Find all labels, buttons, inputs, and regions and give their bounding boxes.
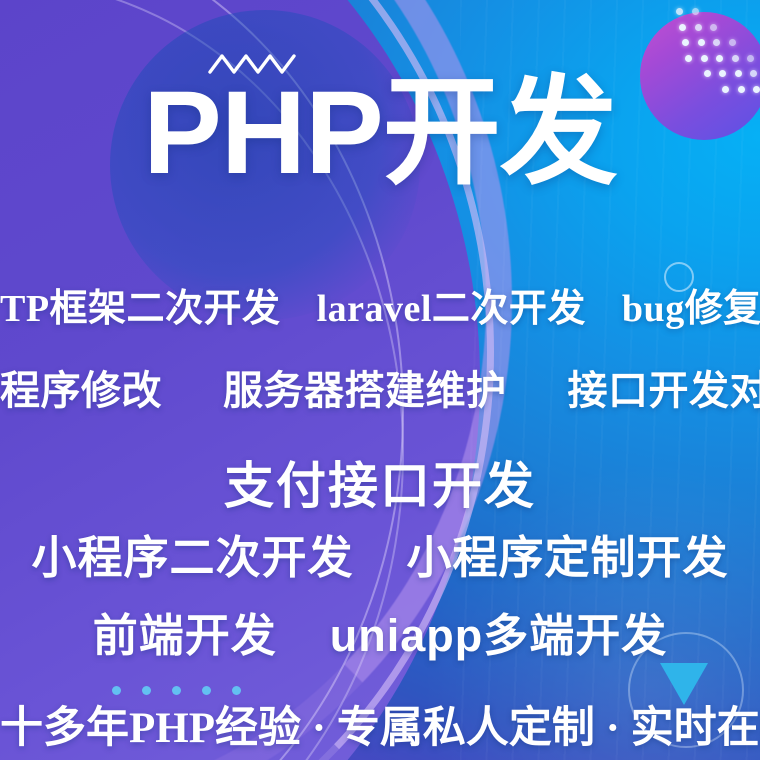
footer-item-3: 实时在线沟通 xyxy=(631,705,760,752)
footer-strapline: 十多年PHP经验 · 专属私人定制 · 实时在线沟通 xyxy=(0,693,760,755)
service-line-3-seg-1: 支付接口开发 xyxy=(224,458,536,514)
service-line-4-seg-2: 小程序定制开发 xyxy=(407,532,729,583)
service-line-4: 小程序二次开发 小程序定制开发 xyxy=(0,521,760,586)
service-line-1-seg-1: TP框架二次开发 xyxy=(0,288,281,330)
service-line-1-seg-3: bug修复 xyxy=(622,288,760,330)
service-line-1: TP框架二次开发 laravel二次开发 bug修复 xyxy=(0,277,760,332)
service-line-5-seg-1: 前端开发 xyxy=(93,610,277,661)
poster-canvas: PHP开发 TP框架二次开发 laravel二次开发 bug修复 程序修改 服务… xyxy=(0,0,760,760)
service-line-2-seg-3: 接口开发对接 xyxy=(568,368,760,413)
footer-separator-2: · xyxy=(606,705,620,752)
service-line-5-seg-2: uniapp多端开发 xyxy=(330,610,667,661)
footer-item-1: 十多年PHP经验 xyxy=(0,705,301,752)
footer-item-2: 专属私人定制 xyxy=(337,705,595,752)
footer-separator-1: · xyxy=(312,705,326,752)
service-line-2: 程序修改 服务器搭建维护 接口开发对接 xyxy=(0,358,760,416)
page-title: PHP开发 xyxy=(0,74,760,192)
service-line-5: 前端开发 uniapp多端开发 xyxy=(0,599,760,664)
service-line-3: 支付接口开发 xyxy=(0,446,760,518)
service-line-2-seg-1: 程序修改 xyxy=(0,368,162,413)
service-line-4-seg-1: 小程序二次开发 xyxy=(31,532,353,583)
service-line-1-seg-2: laravel二次开发 xyxy=(317,288,586,330)
service-line-2-seg-2: 服务器搭建维护 xyxy=(223,368,507,413)
